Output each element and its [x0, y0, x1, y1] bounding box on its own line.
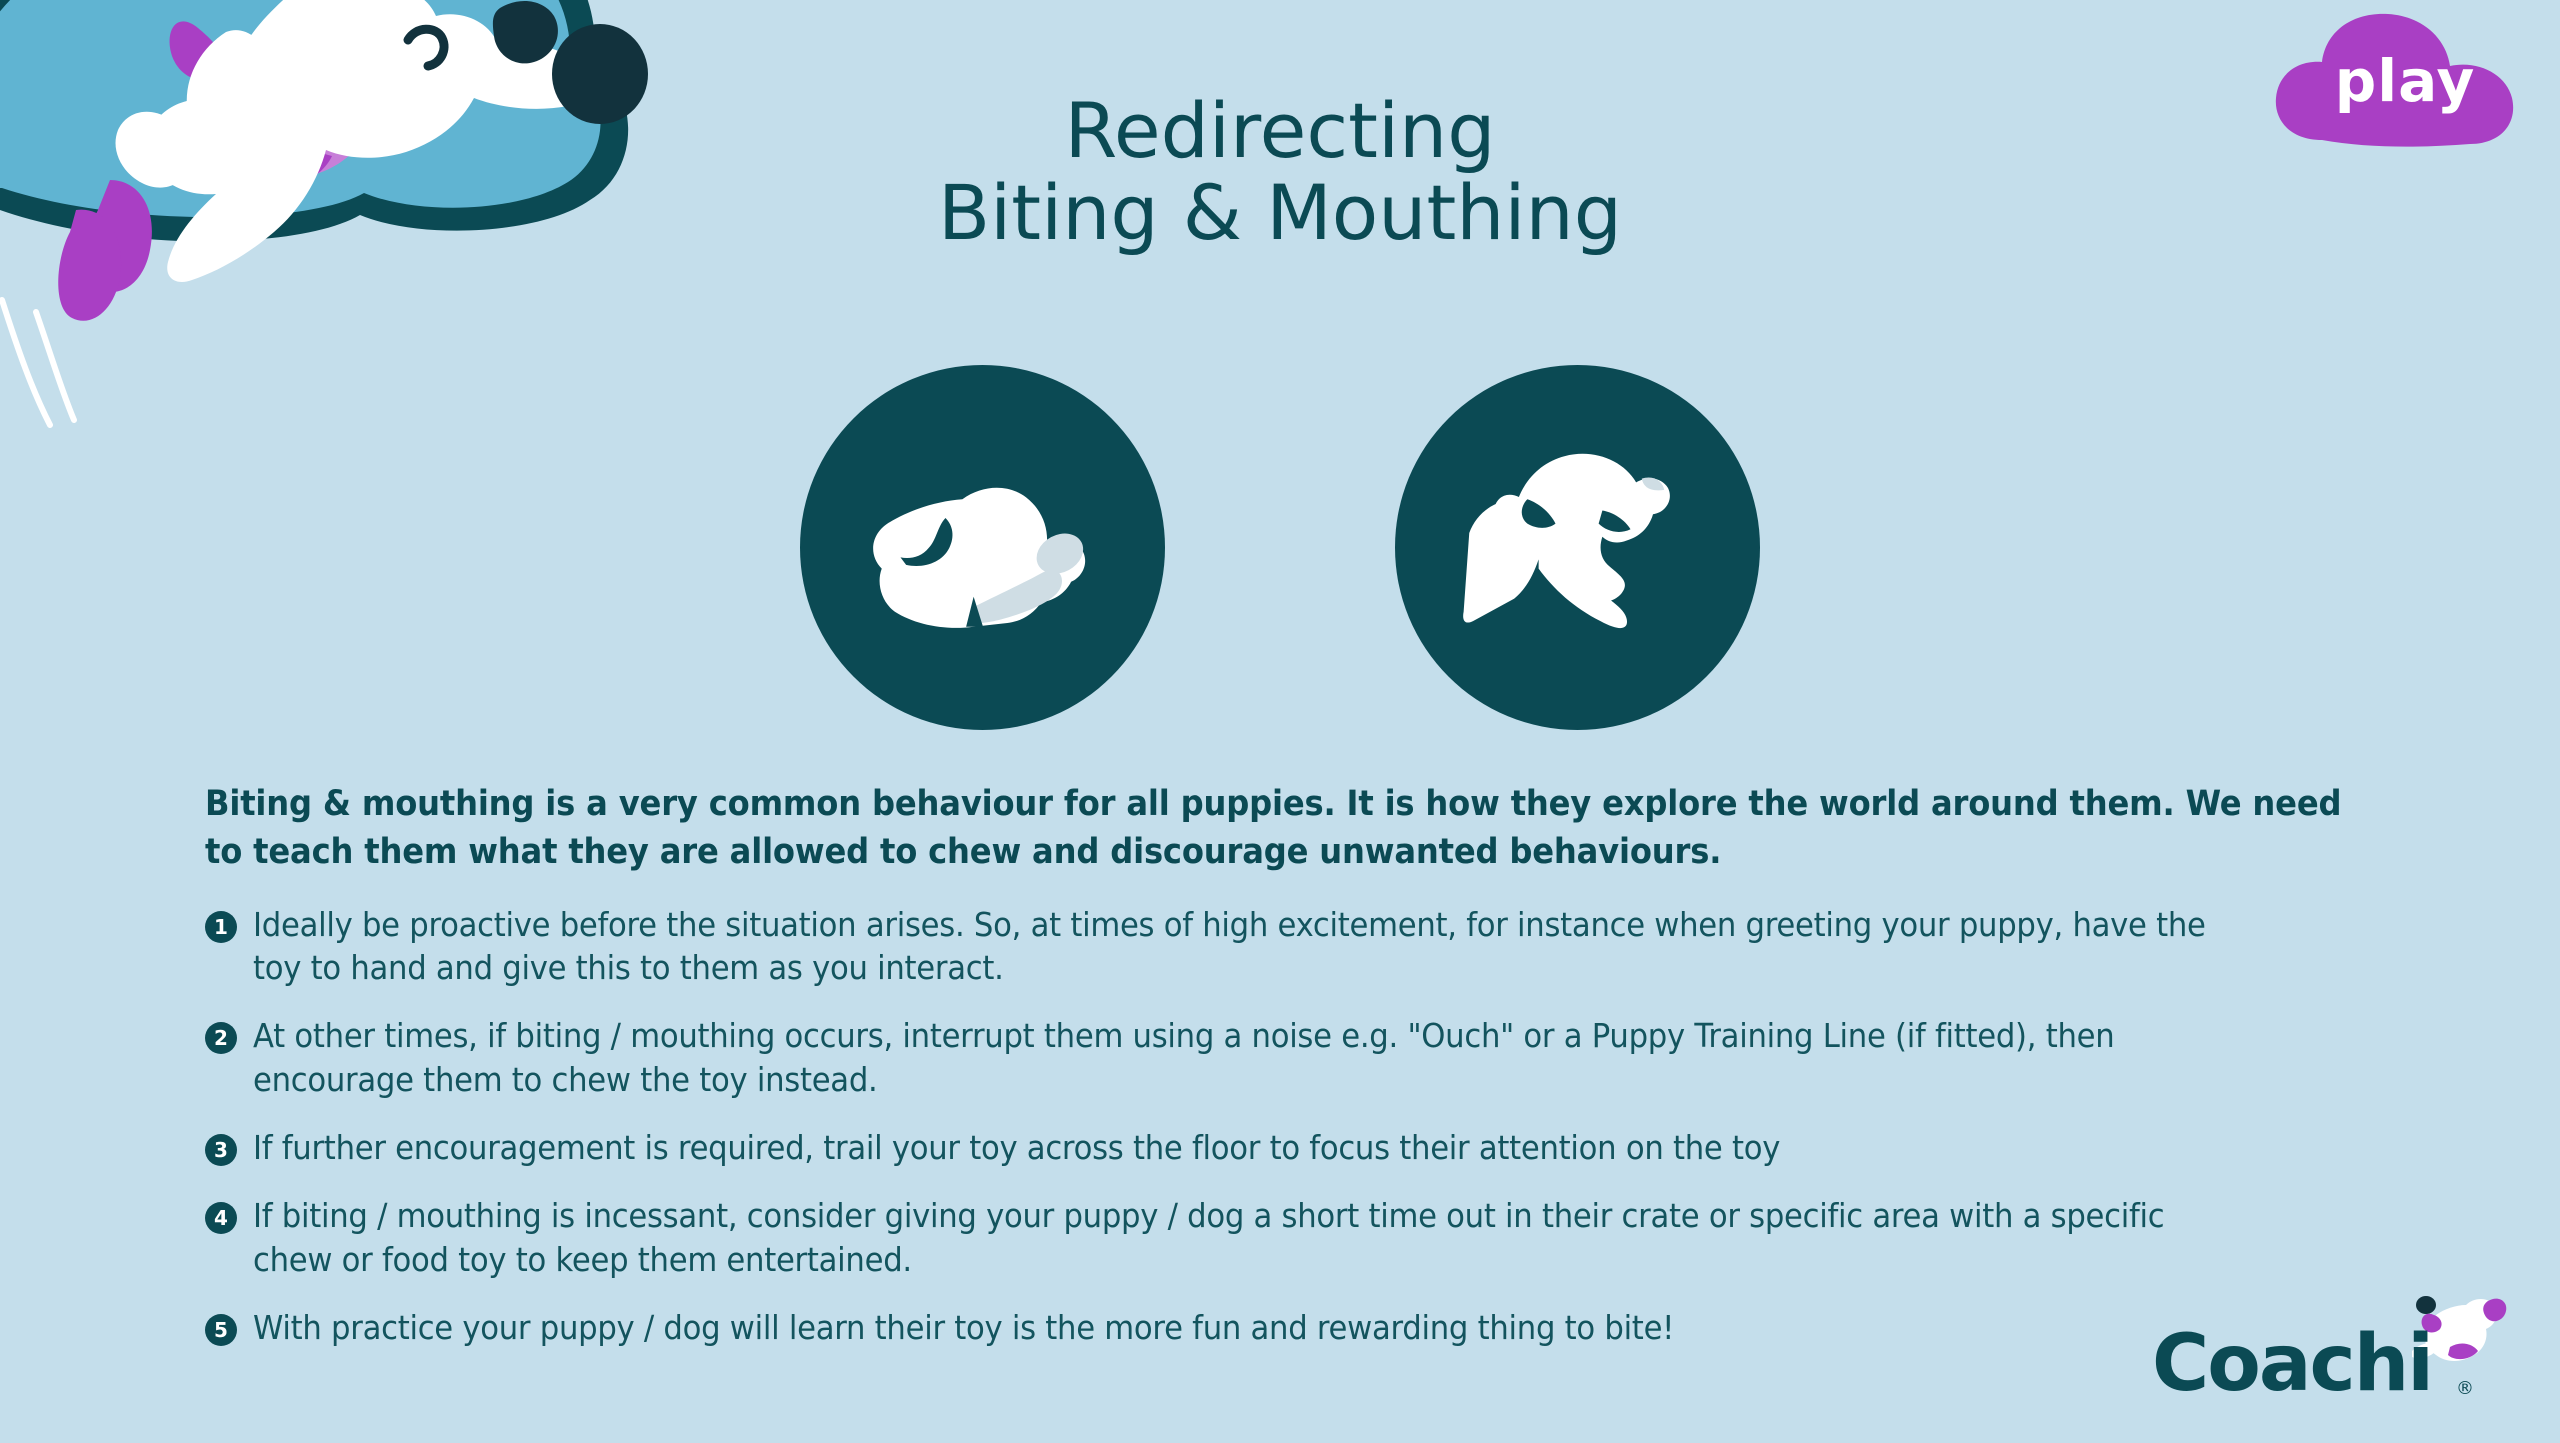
page-title: Redirecting Biting & Mouthing: [580, 90, 1980, 254]
list-item: 1 Ideally be proactive before the situat…: [205, 903, 2385, 991]
icon-row: [0, 365, 2560, 730]
registered-trademark-mark: ®: [2456, 1378, 2474, 1399]
step-text: Ideally be proactive before the situatio…: [253, 903, 2236, 991]
step-number-badge: 3: [205, 1134, 237, 1166]
title-line-2: Biting & Mouthing: [580, 172, 1980, 254]
list-item: 3 If further encouragement is required, …: [205, 1126, 2385, 1170]
play-badge: play: [2270, 8, 2540, 153]
coachi-wordmark: Coachi: [2152, 1319, 2432, 1409]
step-number-badge: 2: [205, 1022, 237, 1054]
step-text: If biting / mouthing is incessant, consi…: [253, 1194, 2236, 1282]
poster-canvas: play Redirecting Biting & Mouthing: [0, 0, 2560, 1443]
content-body: Biting & mouthing is a very common behav…: [205, 780, 2385, 1374]
step-text: With practice your puppy / dog will lear…: [253, 1306, 2236, 1350]
list-item: 5 With practice your puppy / dog will le…: [205, 1306, 2385, 1350]
list-item: 2 At other times, if biting / mouthing o…: [205, 1014, 2385, 1102]
leaping-dog-glyph: [1428, 398, 1728, 698]
list-item: 4 If biting / mouthing is incessant, con…: [205, 1194, 2385, 1282]
play-badge-label: play: [2270, 47, 2540, 115]
intro-paragraph: Biting & mouthing is a very common behav…: [205, 780, 2371, 877]
step-number-badge: 4: [205, 1202, 237, 1234]
dog-head-with-toy-icon: [800, 365, 1165, 730]
step-text: If further encouragement is required, tr…: [253, 1126, 2236, 1170]
step-number-badge: 5: [205, 1314, 237, 1346]
steps-list: 1 Ideally be proactive before the situat…: [205, 903, 2385, 1350]
step-number-badge: 1: [205, 911, 237, 943]
title-line-1: Redirecting: [580, 90, 1980, 172]
dog-head-with-toy-glyph: [833, 398, 1133, 698]
step-text: At other times, if biting / mouthing occ…: [253, 1014, 2236, 1102]
coachi-logo: Coachi ®: [2152, 1285, 2512, 1425]
leaping-dog-icon: [1395, 365, 1760, 730]
